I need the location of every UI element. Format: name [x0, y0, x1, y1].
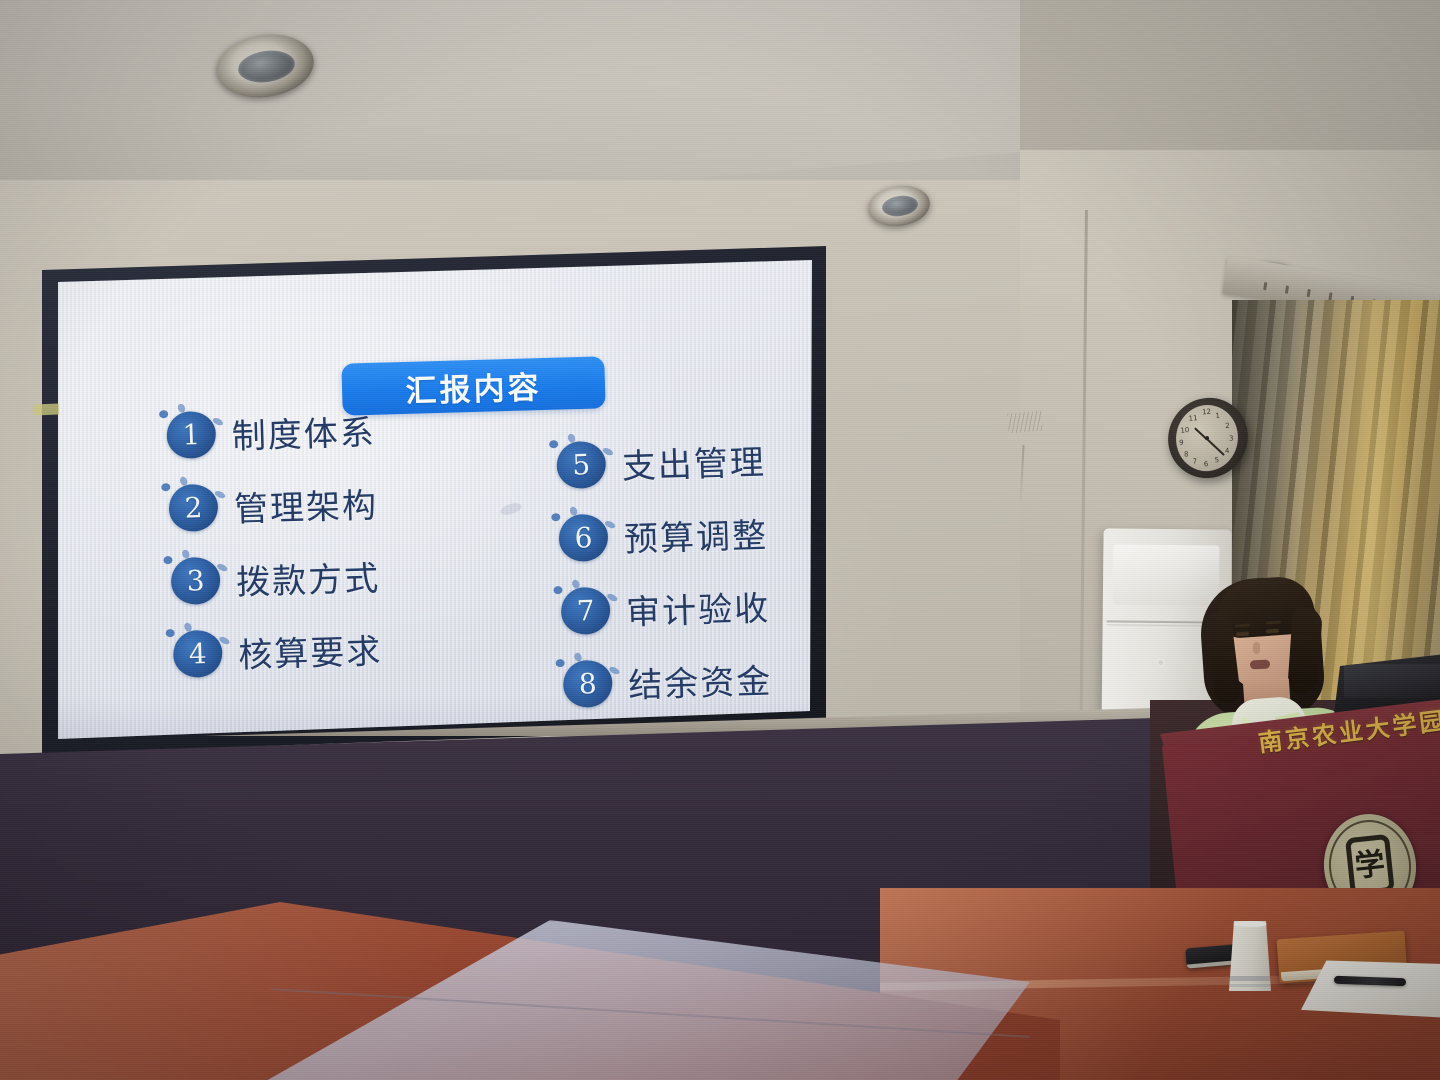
- slide-agenda-columns: 1 制度体系 2 管理架构 3: [20, 246, 830, 756]
- agenda-item: 8 结余资金: [562, 642, 773, 721]
- agenda-number: 5: [572, 451, 591, 480]
- agenda-label: 制度体系: [231, 405, 376, 458]
- agenda-number-badge: 3: [170, 557, 220, 605]
- agenda-label: 支出管理: [621, 435, 766, 488]
- wall-scuff-mark: [1007, 411, 1042, 433]
- agenda-label: 核算要求: [238, 624, 383, 677]
- agenda-item: 4 核算要求: [172, 612, 383, 691]
- crest-glyph: 学: [1350, 842, 1390, 890]
- agenda-column-left: 1 制度体系 2 管理架构 3: [166, 393, 384, 691]
- ceiling-downlight-icon: [868, 186, 930, 226]
- agenda-number: 1: [182, 421, 201, 450]
- agenda-label: 审计验收: [625, 581, 770, 634]
- projection-screen: 汇报内容 1 制度体系 2: [20, 246, 830, 756]
- presentation-slide: 汇报内容 1 制度体系 2: [20, 246, 830, 756]
- agenda-item: 2 管理架构: [168, 466, 379, 545]
- agenda-number: 7: [576, 597, 595, 626]
- agenda-number-badge: 5: [556, 441, 606, 489]
- agenda-number-badge: 7: [560, 587, 610, 635]
- agenda-label: 管理架构: [233, 478, 378, 531]
- agenda-number-badge: 6: [558, 514, 608, 562]
- agenda-number: 6: [574, 524, 593, 553]
- agenda-item: 5 支出管理: [556, 423, 767, 502]
- agenda-number: 4: [188, 640, 207, 669]
- agenda-number-badge: 4: [173, 630, 223, 678]
- agenda-number: 8: [578, 670, 597, 699]
- agenda-item: 1 制度体系: [166, 393, 377, 472]
- agenda-label: 拨款方式: [235, 551, 380, 604]
- agenda-label: 预算调整: [623, 508, 768, 561]
- agenda-number-badge: 2: [168, 484, 218, 532]
- photo-scene: 12 1 2 3 4 5 6 7 8 9 10 11 汇报内容: [0, 0, 1440, 1080]
- agenda-number-badge: 8: [563, 660, 613, 708]
- paper-cup: [1229, 921, 1271, 991]
- ceiling-downlight-icon: [216, 35, 314, 97]
- agenda-number: 3: [186, 567, 205, 596]
- agenda-item: 6 预算调整: [558, 496, 769, 575]
- screen-tape-patch: [33, 404, 59, 416]
- agenda-item: 3 拨款方式: [170, 539, 381, 618]
- agenda-label: 结余资金: [628, 654, 773, 707]
- agenda-number-badge: 1: [166, 411, 216, 459]
- agenda-number: 2: [184, 494, 203, 523]
- agenda-column-right: 5 支出管理 6 预算调整 7: [556, 423, 774, 721]
- agenda-item: 7 审计验收: [560, 569, 771, 648]
